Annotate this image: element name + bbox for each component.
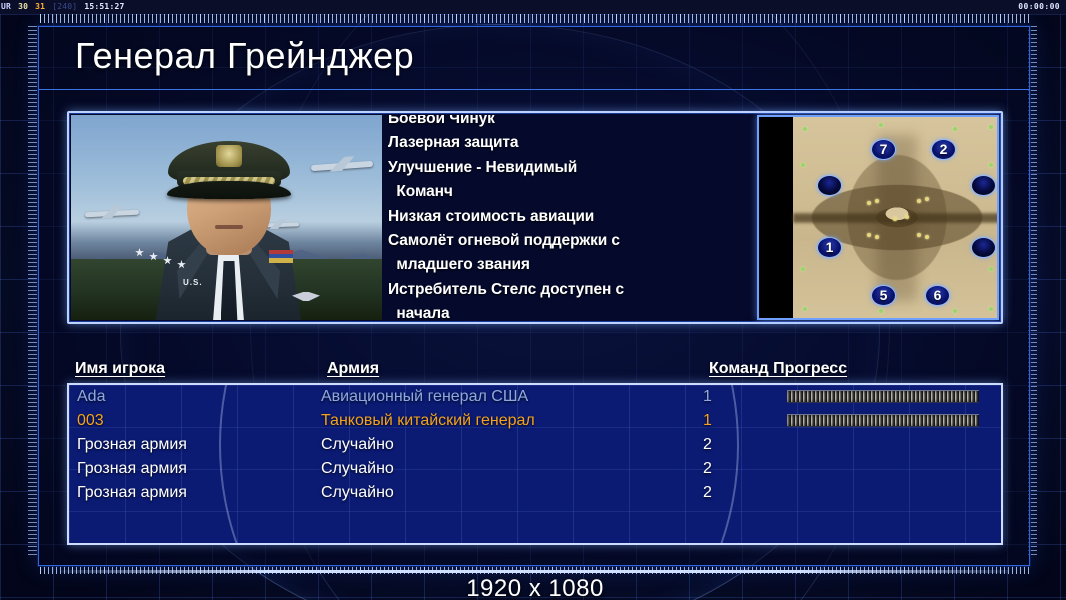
cell-team: 1 xyxy=(703,385,712,409)
map-supply-node xyxy=(875,199,879,203)
map-start-position-6[interactable]: 6 xyxy=(925,285,950,306)
os-counter-two: 31 xyxy=(34,0,46,14)
os-clock: 15:51:27 xyxy=(83,0,125,14)
cell-progress-bar xyxy=(787,414,979,427)
column-header-player-name: Имя игрока xyxy=(75,360,165,378)
cell-army: Случайно xyxy=(321,481,394,505)
rank-star-icon xyxy=(149,252,158,261)
progress-bar-fill xyxy=(787,414,979,427)
cell-player-name: Грозная армия xyxy=(77,481,187,505)
lobby-window: Генерал Грейнджер xyxy=(38,26,1030,566)
map-resource-node xyxy=(989,125,993,129)
cell-team: 2 xyxy=(703,433,712,457)
os-counter-one: 30 xyxy=(17,0,29,14)
resolution-label: 1920 x 1080 xyxy=(39,575,1031,600)
map-supply-node xyxy=(925,235,929,239)
cell-player-name: Ada xyxy=(77,385,105,409)
us-insignia: U.S. xyxy=(183,278,203,287)
cell-progress-bar xyxy=(787,390,979,403)
ruler-top xyxy=(40,14,1030,23)
cell-player-name: Грозная армия xyxy=(77,457,187,481)
ruler-left xyxy=(28,26,37,556)
map-start-position-empty[interactable] xyxy=(971,175,996,196)
general-info-panel: U.S. Боевой ЧинукЛазерная защитаУлуч xyxy=(67,111,1003,324)
map-resource-node xyxy=(879,123,883,127)
map-supply-node xyxy=(925,197,929,201)
map-start-position-5[interactable]: 5 xyxy=(871,285,896,306)
map-start-position-empty[interactable] xyxy=(817,175,842,196)
cell-player-name: 003 xyxy=(77,409,104,433)
bonus-items: Боевой ЧинукЛазерная защитаУлучшение - Н… xyxy=(388,115,688,320)
page-title: Генерал Грейнджер xyxy=(75,35,414,77)
bonus-item: Истребитель Стелс доступен с начала xyxy=(388,278,688,320)
rank-star-icon xyxy=(135,248,144,257)
footer-divider xyxy=(61,570,1009,573)
cap-visor xyxy=(167,181,291,199)
map-preview[interactable]: 72156 xyxy=(757,115,999,320)
os-elapsed-timer: 00:00:00 xyxy=(1018,0,1060,14)
map-resource-node xyxy=(803,127,807,131)
map-start-position-empty[interactable] xyxy=(971,237,996,258)
map-resource-node xyxy=(989,307,993,311)
cell-army: Танковый китайский генерал xyxy=(321,409,535,433)
window-titlebar: Генерал Грейнджер xyxy=(39,27,1029,90)
column-header-team-progress: Команд Прогресс xyxy=(709,360,847,378)
progress-bar-fill xyxy=(787,390,979,403)
cell-army: Авиационный генерал США xyxy=(321,385,528,409)
bonus-item: Боевой Чинук xyxy=(388,115,688,131)
cell-army: Случайно xyxy=(321,433,394,457)
map-supply-node xyxy=(867,201,871,205)
bonus-item: Низкая стоимость авиации xyxy=(388,205,688,229)
general-portrait: U.S. xyxy=(71,115,382,320)
cell-team: 2 xyxy=(703,481,712,505)
cell-army: Случайно xyxy=(321,457,394,481)
map-resource-node xyxy=(801,163,805,167)
map-resource-node xyxy=(803,307,807,311)
map-start-position-1[interactable]: 1 xyxy=(817,237,842,258)
map-resource-node xyxy=(879,309,883,313)
general-bonus-list: Боевой ЧинукЛазерная защитаУлучшение - Н… xyxy=(382,115,692,320)
bonus-item: Лазерная защита xyxy=(388,131,688,155)
table-row[interactable]: 003Танковый китайский генерал1 xyxy=(69,409,1001,433)
map-supply-node xyxy=(905,215,909,219)
table-row[interactable]: Грозная армияСлучайно2 xyxy=(69,457,1001,481)
os-status-bar: UR 30 31 [240] 15:51:27 00:00:00 xyxy=(0,0,1066,14)
map-resource-node xyxy=(989,163,993,167)
player-rows: AdaАвиационный генерал США1003Танковый к… xyxy=(69,385,1001,505)
cell-team: 2 xyxy=(703,457,712,481)
map-resource-node xyxy=(989,267,993,271)
map-resource-node xyxy=(953,309,957,313)
map-start-position-7[interactable]: 7 xyxy=(871,139,896,160)
column-header-army: Армия xyxy=(327,360,379,378)
table-row[interactable]: Грозная армияСлучайно2 xyxy=(69,433,1001,457)
table-row[interactable]: Грозная армияСлучайно2 xyxy=(69,481,1001,505)
os-label-ur: UR xyxy=(0,0,12,14)
map-supply-node xyxy=(893,217,897,221)
cell-player-name: Грозная армия xyxy=(77,433,187,457)
map-supply-node xyxy=(917,199,921,203)
map-supply-node xyxy=(917,233,921,237)
game-lobby-screen: UR 30 31 [240] 15:51:27 00:00:00 Генерал… xyxy=(0,0,1066,600)
player-table-panel: AdaАвиационный генерал США1003Танковый к… xyxy=(67,383,1003,545)
map-start-position-2[interactable]: 2 xyxy=(931,139,956,160)
table-row[interactable]: AdaАвиационный генерал США1 xyxy=(69,385,1001,409)
map-resource-node xyxy=(953,127,957,131)
bonus-item: Самолёт огневой поддержки с младшего зва… xyxy=(388,229,688,278)
os-bracket-value: [240] xyxy=(51,0,78,14)
map-resource-node xyxy=(801,267,805,271)
ribbon-bar xyxy=(269,250,293,263)
mouth xyxy=(215,225,243,229)
map-supply-node xyxy=(875,235,879,239)
bonus-item: Улучшение - Невидимый Команч xyxy=(388,156,688,205)
cell-team: 1 xyxy=(703,409,712,433)
cap-eagle-crest-icon xyxy=(216,145,242,167)
map-supply-node xyxy=(867,233,871,237)
officer-figure: U.S. xyxy=(121,137,336,320)
table-header-row: Имя игрока Армия Команд Прогресс xyxy=(75,360,995,384)
